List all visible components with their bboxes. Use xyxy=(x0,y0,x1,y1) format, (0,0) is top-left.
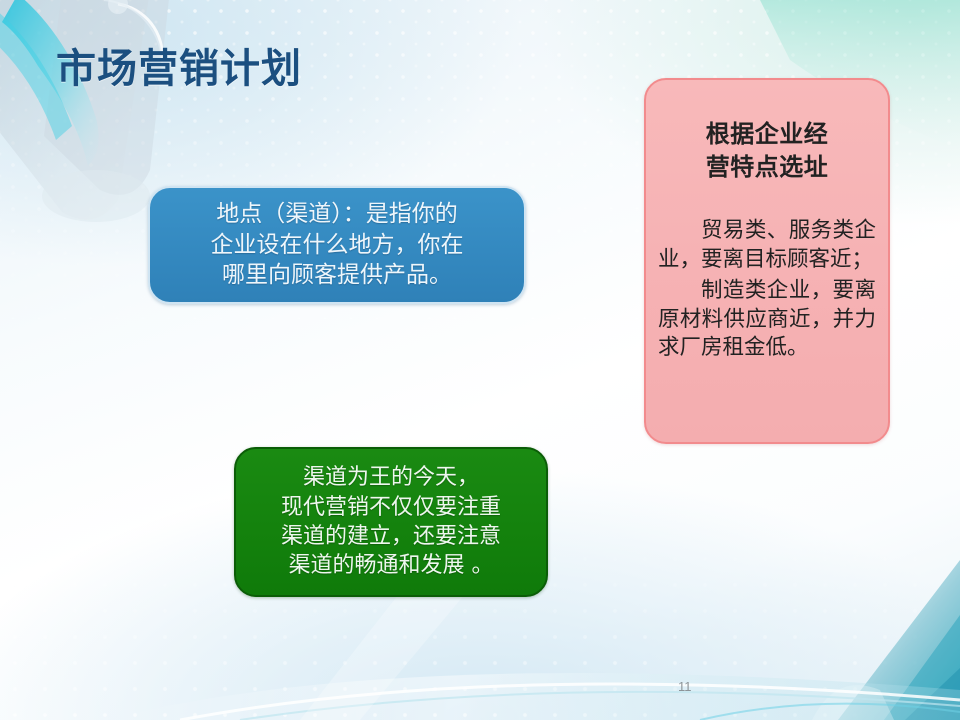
presentation-slide: 市场营销计划 地点（渠道）：是指你的 企业设在什么地方，你在 哪里向顾客提供产品… xyxy=(0,0,960,720)
green-box-line-4: 渠道的畅通和发展 。 xyxy=(248,551,534,580)
slide-page-number: 11 xyxy=(678,679,692,694)
callout-box-blue-place-channel[interactable]: 地点（渠道）：是指你的 企业设在什么地方，你在 哪里向顾客提供产品。 xyxy=(148,186,526,304)
blue-box-line-1: 地点（渠道）：是指你的 xyxy=(164,199,510,229)
pink-box-heading: 根据企业经 营特点选址 xyxy=(658,118,876,183)
pink-box-paragraph-1: 贸易类、服务类企业，要离目标顾客近； xyxy=(658,217,876,275)
callout-box-green-channel-king[interactable]: 渠道为王的今天， 现代营销不仅仅要注重 渠道的建立，还要注意 渠道的畅通和发展 … xyxy=(234,447,548,597)
callout-box-pink-site-selection[interactable]: 根据企业经 营特点选址 贸易类、服务类企业，要离目标顾客近； 制造类企业，要离原… xyxy=(644,78,890,444)
green-box-line-2: 现代营销不仅仅要注重 xyxy=(248,493,534,522)
pink-box-paragraph-2: 制造类企业，要离原材料供应商近，并力求厂房租金低。 xyxy=(658,277,876,363)
green-box-line-1: 渠道为王的今天， xyxy=(248,463,534,492)
pink-heading-line-1: 根据企业经 xyxy=(658,118,876,151)
pink-heading-line-2: 营特点选址 xyxy=(658,151,876,184)
blue-box-line-2: 企业设在什么地方，你在 xyxy=(164,230,510,260)
blue-box-line-3: 哪里向顾客提供产品。 xyxy=(164,260,510,290)
green-box-line-3: 渠道的建立，还要注意 xyxy=(248,522,534,551)
page-title: 市场营销计划 xyxy=(56,36,302,94)
